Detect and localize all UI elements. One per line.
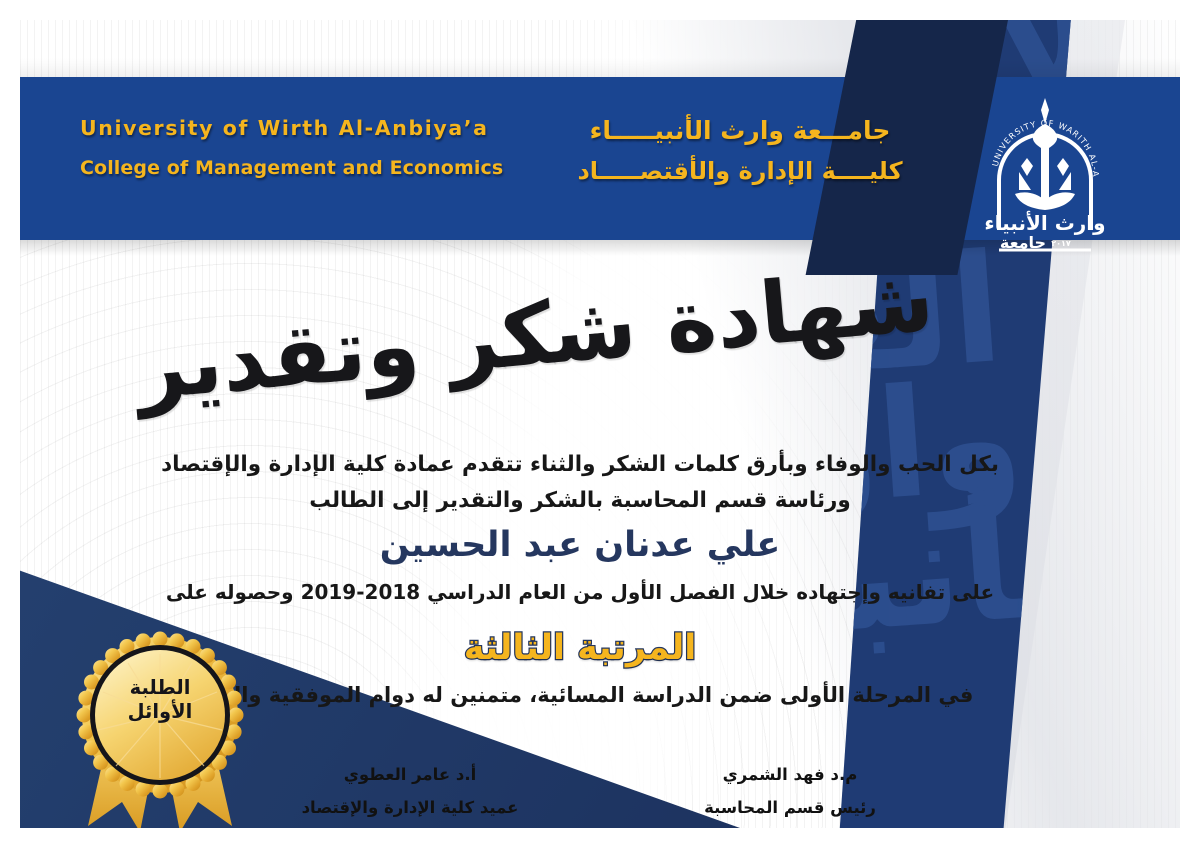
designer-credit: Designed by: Ali Aziz <box>20 355 22 499</box>
university-logo-icon: UNIVERSITY OF WARITH AL-ANBIYA'A وارث ال… <box>975 80 1115 255</box>
body-line-3: على تفانيه وإجتهاده خلال الفصل الأول من … <box>80 580 1080 604</box>
university-logo: UNIVERSITY OF WARITH AL-ANBIYA'A وارث ال… <box>975 80 1115 255</box>
gold-rosette-seal: الطلبة الأوائل <box>70 620 250 828</box>
university-name-english: University of Wirth Al-Anbiya’a <box>80 116 550 140</box>
logo-arabic-main: وارث الأنبياء <box>984 210 1105 235</box>
certificate-page: ألا بذكر الله تطمئن القلوب وارث الأنبياء… <box>0 0 1200 848</box>
signature-right-name: م.د فهد الشمري <box>660 765 920 784</box>
signature-block-right: م.د فهد الشمري رئيس قسم المحاسبة <box>660 765 920 817</box>
signature-left-role: عميد كلية الإدارة والإقتصاد <box>270 798 550 817</box>
body-line-2: ورئاسة قسم المحاسبة بالشكر والتقدير إلى … <box>80 488 1080 513</box>
logo-year: ٢٠١٧ <box>1051 239 1071 248</box>
university-name-arabic: جامـــعة وارث الأنبيـــــاء <box>525 116 955 145</box>
signature-right-role: رئيس قسم المحاسبة <box>660 798 920 817</box>
header-top-shadow <box>20 58 1180 78</box>
rosette-icon <box>70 620 250 828</box>
header-arabic-block: جامـــعة وارث الأنبيـــــاء كليــــة الإ… <box>525 116 955 185</box>
header-english-block: University of Wirth Al-Anbiya’a College … <box>80 116 550 179</box>
college-name-arabic: كليــــة الإدارة والأقتصـــــاد <box>525 157 955 185</box>
body-line-1: بكل الحب والوفاء وبأرق كلمات الشكر والثن… <box>80 452 1080 477</box>
college-name-english: College of Management and Economics <box>80 157 550 179</box>
signature-block-left: أ.د عامر العطوي عميد كلية الإدارة والإقت… <box>270 765 550 817</box>
signature-left-name: أ.د عامر العطوي <box>270 765 550 784</box>
certificate-panel: ألا بذكر الله تطمئن القلوب وارث الأنبياء… <box>20 20 1180 828</box>
student-name: علي عدنان عبد الحسين <box>80 525 1080 565</box>
